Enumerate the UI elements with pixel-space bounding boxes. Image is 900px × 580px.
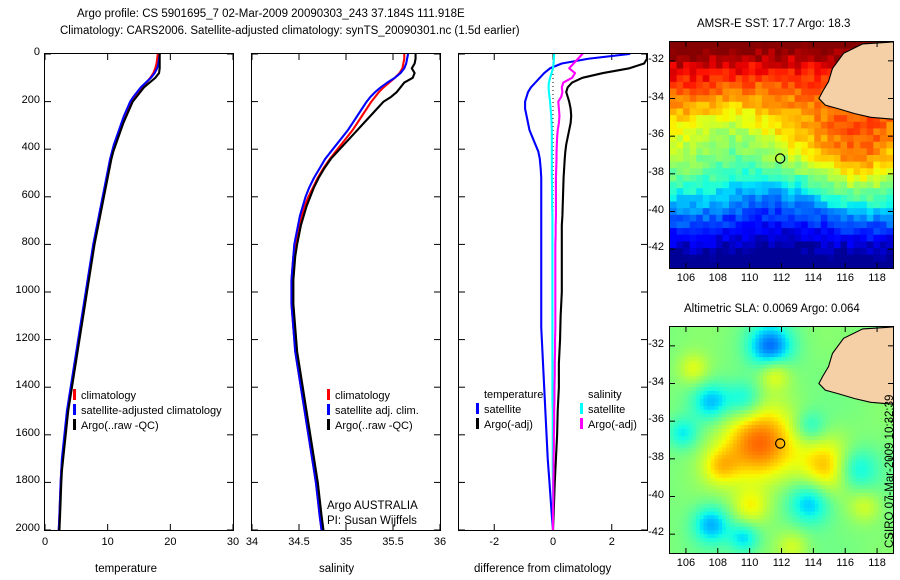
depth-tick-label: 800 (0, 236, 40, 248)
legend-swatch-temp-argo (476, 418, 479, 429)
tick-label: 35.5 (371, 536, 415, 548)
salinity-axis-label: salinity (319, 563, 354, 575)
depth-tick-label: 1600 (0, 427, 40, 439)
lat-tick-label: -38 (636, 451, 664, 463)
legend-swatch-sal-satellite (580, 403, 583, 414)
salinity-panel (251, 53, 441, 531)
legend-swatch-temp-satellite (476, 403, 479, 414)
tick-label: 36 (418, 536, 462, 548)
legend-swatch-satellite (73, 404, 76, 415)
lat-tick-label: -40 (636, 204, 664, 216)
legend-heading-temperature: temperature (476, 389, 543, 401)
legend-label: satellite-adjusted climatology (81, 405, 222, 417)
salinity-legend: climatology satellite adj. clim. Argo(..… (327, 389, 419, 432)
lat-tick-label: -42 (636, 526, 664, 538)
tick-label: 34.5 (277, 536, 321, 548)
sla-map (670, 327, 893, 553)
legend-heading-salinity: salinity (580, 389, 637, 401)
legend-swatch-satellite (327, 404, 330, 415)
lat-tick-label: -36 (636, 413, 664, 425)
legend-item: climatology (73, 389, 237, 402)
depth-tick-label: 1200 (0, 332, 40, 344)
depth-tick-label: 200 (0, 94, 40, 106)
legend-label: satellite (484, 404, 521, 416)
lat-tick-label: -36 (636, 128, 664, 140)
lon-tick-label: 112 (764, 272, 800, 284)
sla-map-panel (669, 326, 894, 554)
lon-tick-label: 114 (795, 272, 831, 284)
legend-item: satellite (580, 403, 637, 416)
csiro-stamp: CSIRO 07-Mar-2009 10:32:39 (884, 395, 896, 548)
lon-tick-label: 106 (668, 272, 704, 284)
depth-tick-label: 400 (0, 141, 40, 153)
legend-label: Argo(-adj) (484, 419, 533, 431)
legend-swatch-sal-argo (580, 418, 583, 429)
depth-tick-label: 0 (0, 46, 40, 58)
legend-item: Argo(-adj) (580, 418, 637, 431)
lon-tick-label: 108 (700, 272, 736, 284)
lat-tick-label: -38 (636, 166, 664, 178)
difference-axis-label: difference from climatology (474, 563, 611, 575)
temperature-panel (44, 53, 234, 531)
legend-swatch-climatology (327, 389, 330, 400)
legend-item: satellite (476, 403, 543, 416)
figure-title-line1: Argo profile: CS 5901695_7 02-Mar-2009 2… (77, 8, 465, 20)
legend-label: Argo(..raw -QC) (335, 420, 413, 432)
difference-legend-salinity: salinity satellite Argo(-adj) (580, 389, 637, 431)
lat-tick-label: -34 (636, 376, 664, 388)
depth-tick-label: 2000 (0, 522, 40, 534)
lat-tick-label: -32 (636, 53, 664, 65)
legend-item: Argo(..raw -QC) (327, 419, 419, 432)
legend-swatch-climatology (73, 389, 76, 400)
legend-label: Argo(..raw -QC) (81, 420, 159, 432)
legend-item: climatology (327, 389, 419, 402)
sst-map (670, 42, 893, 268)
lat-tick-label: -40 (636, 489, 664, 501)
tick-label: 34 (230, 536, 274, 548)
legend-item: Argo(..raw -QC) (73, 419, 237, 432)
lat-tick-label: -42 (636, 241, 664, 253)
lon-tick-label: 110 (732, 557, 768, 569)
lat-tick-label: -32 (636, 338, 664, 350)
figure-title-line2: Climatology: CARS2006. Satellite-adjuste… (60, 25, 520, 37)
legend-item: Argo(-adj) (476, 418, 543, 431)
sst-map-panel (669, 41, 894, 269)
legend-label: climatology (335, 390, 390, 402)
tick-label: 35 (324, 536, 368, 548)
sst-map-title: AMSR-E SST: 17.7 Argo: 18.3 (697, 18, 850, 30)
temperature-axis-label: temperature (95, 563, 157, 575)
tick-label: 2 (592, 536, 632, 548)
legend-label: satellite adj. clim. (335, 405, 419, 417)
depth-tick-label: 1000 (0, 284, 40, 296)
tick-label: -2 (474, 536, 514, 548)
legend-item: satellite adj. clim. (327, 404, 419, 417)
depth-tick-label: 1800 (0, 474, 40, 486)
lon-tick-label: 118 (859, 272, 895, 284)
credit-line2: PI: Susan Wijffels (327, 515, 417, 527)
temperature-plot (45, 54, 233, 530)
legend-label: satellite (588, 404, 625, 416)
legend-swatch-argo (73, 419, 76, 430)
temperature-legend: climatology satellite-adjusted climatolo… (73, 389, 237, 432)
difference-legend-temperature: temperature satellite Argo(-adj) (476, 389, 543, 431)
sla-map-title: Altimetric SLA: 0.0069 Argo: 0.064 (684, 303, 860, 315)
lon-tick-label: 108 (700, 557, 736, 569)
tick-label: 10 (88, 536, 128, 548)
depth-tick-label: 600 (0, 189, 40, 201)
tick-label: 0 (25, 536, 65, 548)
legend-label: Argo(-adj) (588, 419, 637, 431)
lon-tick-label: 112 (764, 557, 800, 569)
salinity-plot (252, 54, 440, 530)
depth-tick-label: 1400 (0, 379, 40, 391)
lon-tick-label: 106 (668, 557, 704, 569)
tick-label: 20 (150, 536, 190, 548)
credit-line1: Argo AUSTRALIA (327, 500, 418, 512)
lon-tick-label: 116 (827, 272, 863, 284)
difference-panel (458, 53, 648, 531)
legend-item: satellite-adjusted climatology (73, 404, 237, 417)
lat-tick-label: -34 (636, 91, 664, 103)
tick-label: 0 (533, 536, 573, 548)
lon-tick-label: 118 (859, 557, 895, 569)
legend-swatch-argo (327, 419, 330, 430)
legend-label: climatology (81, 390, 136, 402)
difference-plot (459, 54, 647, 530)
lon-tick-label: 116 (827, 557, 863, 569)
lon-tick-label: 110 (732, 272, 768, 284)
lon-tick-label: 114 (795, 557, 831, 569)
